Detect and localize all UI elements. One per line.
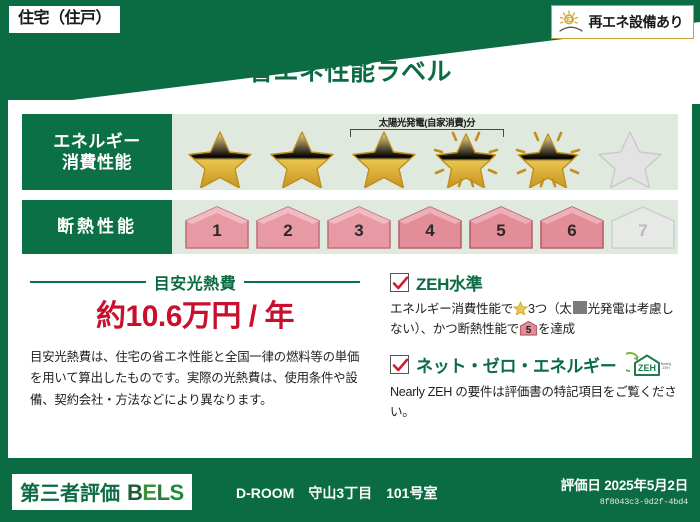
utility-cost-block: 目安光熱費 約10.6万円 / 年 目安光熱費は、住宅の省エネ性能と全国一律の燃… [30, 270, 360, 411]
redacted-character [573, 301, 587, 314]
star-2-filled [262, 126, 342, 188]
svg-text:ZEH: ZEH [663, 366, 671, 370]
zeh-desc-part1: エネルギー消費性能で [390, 302, 513, 316]
star-1-filled [180, 126, 260, 188]
heading-rule-right [244, 281, 360, 283]
sun-icon [558, 10, 584, 34]
net-zero-energy-item: ネット・ゼロ・エネルギー ZEH Nearly ZEH Nearly ZEH の… [390, 352, 680, 423]
insulation-grade-2-number: 2 [253, 221, 323, 241]
zeh-block: ZEH水準 エネルギー消費性能で3つ（太光発電は考慮しない）、かつ断熱性能で5を… [390, 270, 680, 435]
zeh-house-logo-icon: ZEH Nearly ZEH [626, 352, 672, 378]
inline-grade-number: 5 [519, 323, 538, 339]
energy-label-line2: 消費性能 [62, 152, 132, 173]
energy-star-rating [180, 126, 670, 188]
evaluation-date: 評価日 2025年5月2日 [561, 474, 688, 494]
label-title-main: 省エネ性能ラベル [0, 57, 700, 88]
label-title: 建築物省エネ法に基づく 省エネ性能ラベル [0, 40, 700, 88]
star-5-filled-solar [508, 126, 588, 188]
heading-rule-left [30, 281, 146, 283]
check-icon [392, 275, 409, 292]
insulation-grade-5-number: 5 [466, 221, 536, 241]
bels-third-party-label: 第三者評価 [20, 477, 120, 506]
energy-performance-label: 住宅（住戸） 再エネ設備あり 建築物省エネ法に基づく 省エ [0, 0, 700, 522]
energy-performance-body: 太陽光発電(自家消費)分 [172, 114, 678, 190]
content-card: エネルギー 消費性能 太陽光発電(自家消費)分 [8, 100, 692, 458]
energy-performance-label-box: エネルギー 消費性能 [22, 114, 172, 190]
insulation-grade-4-on: 4 [395, 204, 465, 250]
insulation-grade-scale: 1 2 3 4 5 [182, 204, 678, 250]
zeh-standard-title: ZEH水準 [416, 270, 483, 295]
svg-text:ZEH: ZEH [638, 363, 656, 373]
insulation-grade-7-number: 7 [608, 221, 678, 241]
insulation-grade-5-on: 5 [466, 204, 536, 250]
zeh-standard-description: エネルギー消費性能で3つ（太光発電は考慮しない）、かつ断熱性能で5を達成 [390, 299, 680, 340]
insulation-grade-3-number: 3 [324, 221, 394, 241]
utility-cost-heading: 目安光熱費 [30, 270, 360, 294]
insulation-performance-row: 断熱性能 1 2 3 [22, 200, 678, 254]
zeh-standard-header: ZEH水準 [390, 270, 680, 295]
check-icon [392, 357, 409, 374]
header-band: 住宅（住戸） 再エネ設備あり 建築物省エネ法に基づく 省エ [0, 0, 700, 104]
zeh-standard-checkbox[interactable] [390, 273, 409, 292]
evaluation-id: 8f8043c3-9d2f-4bd4 [561, 497, 688, 507]
insulation-performance-body: 1 2 3 4 5 [172, 200, 678, 254]
net-zero-energy-title: ネット・ゼロ・エネルギー [416, 352, 616, 377]
insulation-grade-1-number: 1 [182, 221, 252, 241]
insulation-grade-3-on: 3 [324, 204, 394, 250]
star-3-filled [344, 126, 424, 188]
insulation-grade-6-on: 6 [537, 204, 607, 250]
utility-cost-note: 目安光熱費は、住宅の省エネ性能と全国一律の燃料等の単価を用いて算出したものです。… [30, 347, 360, 411]
insulation-grade-1-on: 1 [182, 204, 252, 250]
evaluation-info: 評価日 2025年5月2日 8f8043c3-9d2f-4bd4 [561, 474, 688, 507]
label-title-sub: 建築物省エネ法に基づく [0, 40, 700, 56]
insulation-grade-4-number: 4 [395, 221, 465, 241]
zeh-star-count: 3つ（太 [528, 302, 572, 316]
property-address: D-ROOM 守山3丁目 101号室 [236, 483, 437, 503]
net-zero-energy-description: Nearly ZEH の要件は評価書の特記項目をご覧ください。 [390, 382, 680, 423]
star-6-empty [590, 126, 670, 188]
renewable-energy-badge-label: 再エネ設備あり [589, 12, 684, 32]
zeh-standard-item: ZEH水準 エネルギー消費性能で3つ（太光発電は考慮しない）、かつ断熱性能で5を… [390, 270, 680, 340]
building-type-tag: 住宅（住戸） [8, 5, 121, 34]
bels-logo-text: BELS [127, 480, 184, 506]
inline-star-icon [513, 301, 528, 315]
insulation-performance-label-box: 断熱性能 [22, 200, 172, 254]
zeh-desc-part3: を達成 [538, 322, 575, 336]
star-4-filled-solar [426, 126, 506, 188]
footer-bar: 第三者評価 BELS D-ROOM 守山3丁目 101号室 評価日 2025年5… [0, 464, 700, 522]
insulation-grade-2-on: 2 [253, 204, 323, 250]
utility-cost-heading-text: 目安光熱費 [154, 270, 237, 294]
renewable-energy-badge: 再エネ設備あり [551, 5, 695, 39]
net-zero-energy-checkbox[interactable] [390, 355, 409, 374]
energy-label-line1: エネルギー [53, 131, 141, 152]
utility-cost-value: 約10.6万円 / 年 [30, 300, 360, 333]
inline-insulation-grade-badge: 5 [519, 320, 538, 336]
insulation-grade-7-off: 7 [608, 204, 678, 250]
net-zero-energy-header: ネット・ゼロ・エネルギー ZEH Nearly ZEH [390, 352, 680, 378]
bels-certification-badge: 第三者評価 BELS [12, 474, 192, 510]
energy-performance-row: エネルギー 消費性能 太陽光発電(自家消費)分 [22, 114, 678, 190]
insulation-grade-6-number: 6 [537, 221, 607, 241]
